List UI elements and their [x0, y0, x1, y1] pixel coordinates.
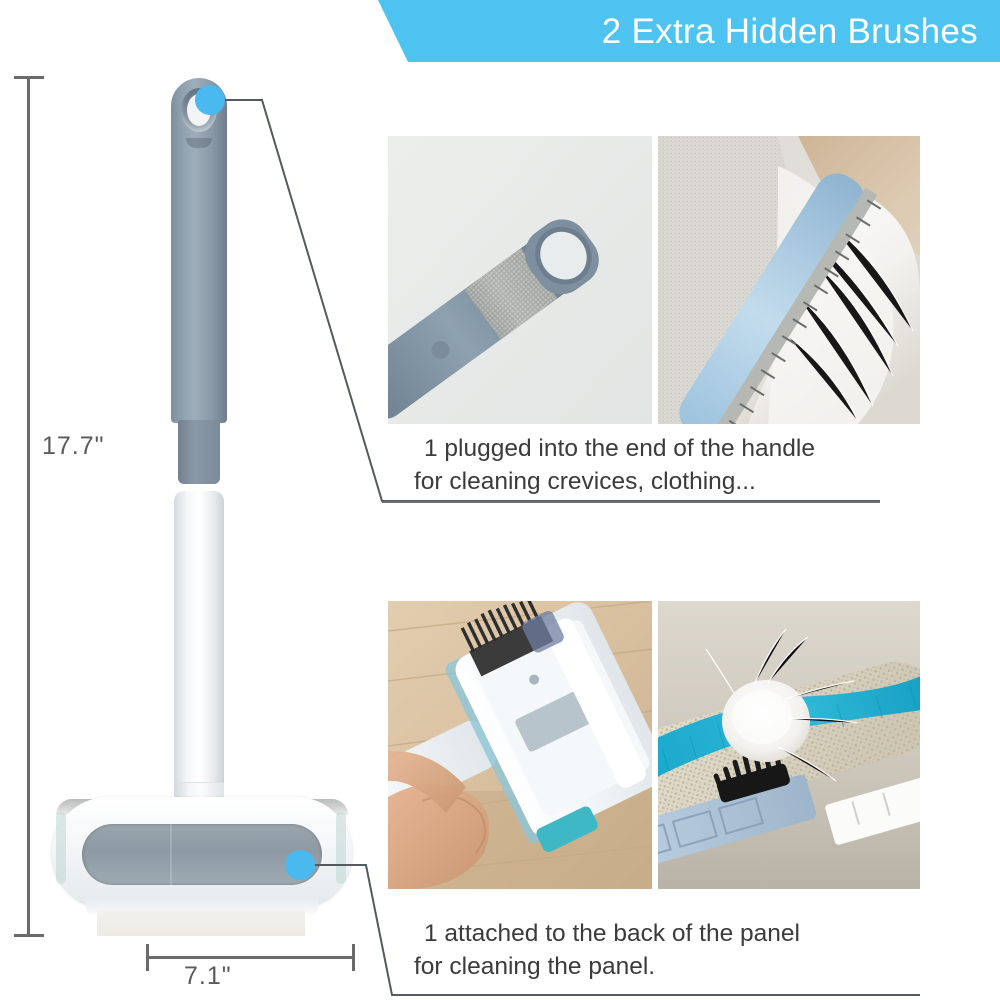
product-shaft	[174, 491, 224, 809]
photo-brush-on-fur	[658, 136, 920, 424]
product-head-edge-left	[56, 812, 66, 884]
header-banner: 2 Extra Hidden Brushes	[370, 0, 1000, 62]
callout-caption-handle-line2: for cleaning crevices, clothing...	[414, 465, 815, 498]
callout-caption-panel-line2: for cleaning the panel.	[414, 950, 800, 983]
product-illustration	[0, 0, 400, 1000]
product-head-panel	[82, 824, 322, 885]
callout-marker-handle[interactable]	[195, 85, 225, 115]
callout-marker-panel[interactable]	[285, 850, 315, 880]
photo-hand-holding-panel-back	[388, 601, 652, 889]
photo-cleaning-panel-lint	[658, 601, 920, 889]
product-head-panel-seam	[170, 824, 172, 885]
product-head-squeegee-blade	[97, 910, 305, 936]
callout-caption-handle-underline	[382, 501, 880, 503]
callout-caption-panel: 1 attached to the back of the panel for …	[424, 917, 800, 983]
callout-caption-handle-line1: 1 plugged into the end of the handle	[424, 435, 815, 462]
photo-handle-end-closeup	[388, 136, 652, 424]
callout-caption-handle: 1 plugged into the end of the handle for…	[424, 432, 815, 498]
infographic-page: 2 Extra Hidden Brushes 17.7" 7.1"	[0, 0, 1000, 1000]
callout-caption-panel-line1: 1 attached to the back of the panel	[424, 920, 800, 947]
header-title: 2 Extra Hidden Brushes	[602, 14, 1000, 49]
handle-detachable-tip	[178, 420, 220, 484]
product-head-edge-right	[336, 812, 346, 884]
